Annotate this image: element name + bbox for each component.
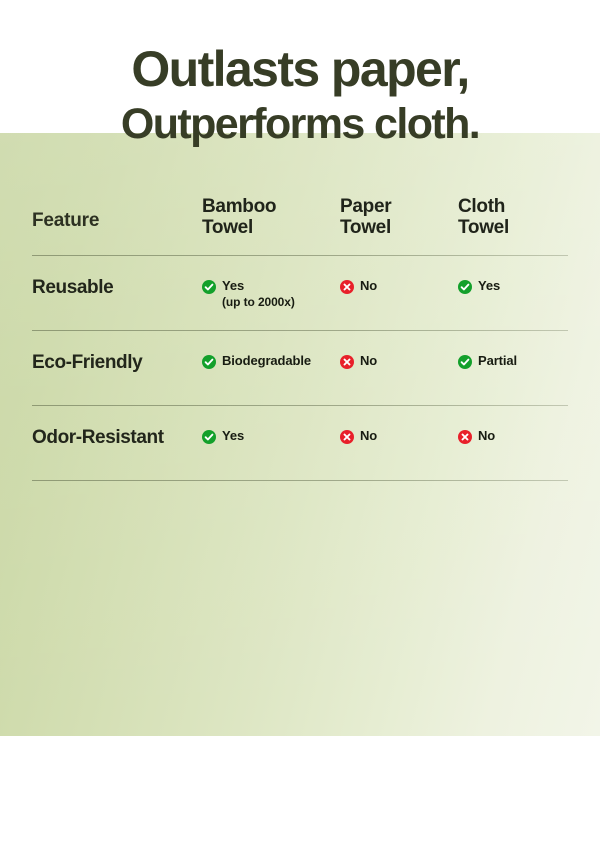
cross-circle-icon <box>340 430 354 444</box>
headline-line-1: Outlasts paper, <box>0 40 600 98</box>
cell-value-main: Biodegradable <box>222 353 311 368</box>
cell-paper: No <box>340 424 458 444</box>
cell-value: Yes <box>478 278 500 294</box>
cell-value: No <box>360 428 377 444</box>
page-title: Outlasts paper, Outperforms cloth. <box>0 40 600 150</box>
headline-line-2: Outperforms cloth. <box>0 98 600 150</box>
cell-value-main: Yes <box>222 278 244 293</box>
feature-label: Odor-Resistant <box>32 424 202 449</box>
column-header-paper-line2: Towel <box>340 217 458 238</box>
column-header-paper-towel: Paper Towel <box>340 196 458 238</box>
cell-value: Partial <box>478 353 517 369</box>
column-header-cloth-line1: Cloth <box>458 196 505 217</box>
check-circle-icon <box>458 280 472 294</box>
cell-value-main: No <box>360 428 377 443</box>
column-header-cloth-line2: Towel <box>458 217 568 238</box>
cross-circle-icon <box>458 430 472 444</box>
column-header-feature: Feature <box>32 196 202 232</box>
cell-value: No <box>360 278 377 294</box>
cell-value-main: No <box>478 428 495 443</box>
cell-paper: No <box>340 274 458 294</box>
check-circle-icon <box>458 355 472 369</box>
cross-circle-icon <box>340 355 354 369</box>
column-header-cloth-towel: Cloth Towel <box>458 196 568 238</box>
feature-label: Eco-Friendly <box>32 349 202 374</box>
cell-value-main: Yes <box>478 278 500 293</box>
cell-bamboo: Yes(up to 2000x) <box>202 274 340 310</box>
cell-cloth: No <box>458 424 568 444</box>
cell-value: Yes(up to 2000x) <box>222 278 295 310</box>
cell-value: No <box>360 353 377 369</box>
table-row: Odor-ResistantYesNoNo <box>32 406 568 481</box>
feature-label: Reusable <box>32 274 202 299</box>
cell-value-main: Yes <box>222 428 244 443</box>
cross-circle-icon <box>340 280 354 294</box>
cell-value-main: Partial <box>478 353 517 368</box>
cell-value: No <box>478 428 495 444</box>
cell-cloth: Yes <box>458 274 568 294</box>
table-row: ReusableYes(up to 2000x)NoYes <box>32 256 568 331</box>
cell-cloth: Partial <box>458 349 568 369</box>
cell-value: Yes <box>222 428 244 444</box>
row-divider <box>32 480 568 481</box>
column-header-bamboo-line1: Bamboo <box>202 196 276 217</box>
cell-paper: No <box>340 349 458 369</box>
table-row: Eco-FriendlyBiodegradableNoPartial <box>32 331 568 406</box>
infographic-canvas: Outlasts paper, Outperforms cloth. Featu… <box>0 0 600 866</box>
cell-value: Biodegradable <box>222 353 311 369</box>
cell-bamboo: Yes <box>202 424 340 444</box>
column-header-paper-line1: Paper <box>340 196 391 217</box>
cell-bamboo: Biodegradable <box>202 349 340 369</box>
check-circle-icon <box>202 355 216 369</box>
check-circle-icon <box>202 280 216 294</box>
column-header-bamboo-line2: Towel <box>202 217 340 238</box>
comparison-table: Feature Bamboo Towel Paper Towel Cloth T… <box>32 182 568 481</box>
cell-value-main: No <box>360 278 377 293</box>
check-circle-icon <box>202 430 216 444</box>
cell-value-main: No <box>360 353 377 368</box>
column-header-bamboo-towel: Bamboo Towel <box>202 196 340 238</box>
cell-value-sub: (up to 2000x) <box>222 294 295 310</box>
table-body: ReusableYes(up to 2000x)NoYesEco-Friendl… <box>32 256 568 481</box>
table-header-row: Feature Bamboo Towel Paper Towel Cloth T… <box>32 182 568 256</box>
